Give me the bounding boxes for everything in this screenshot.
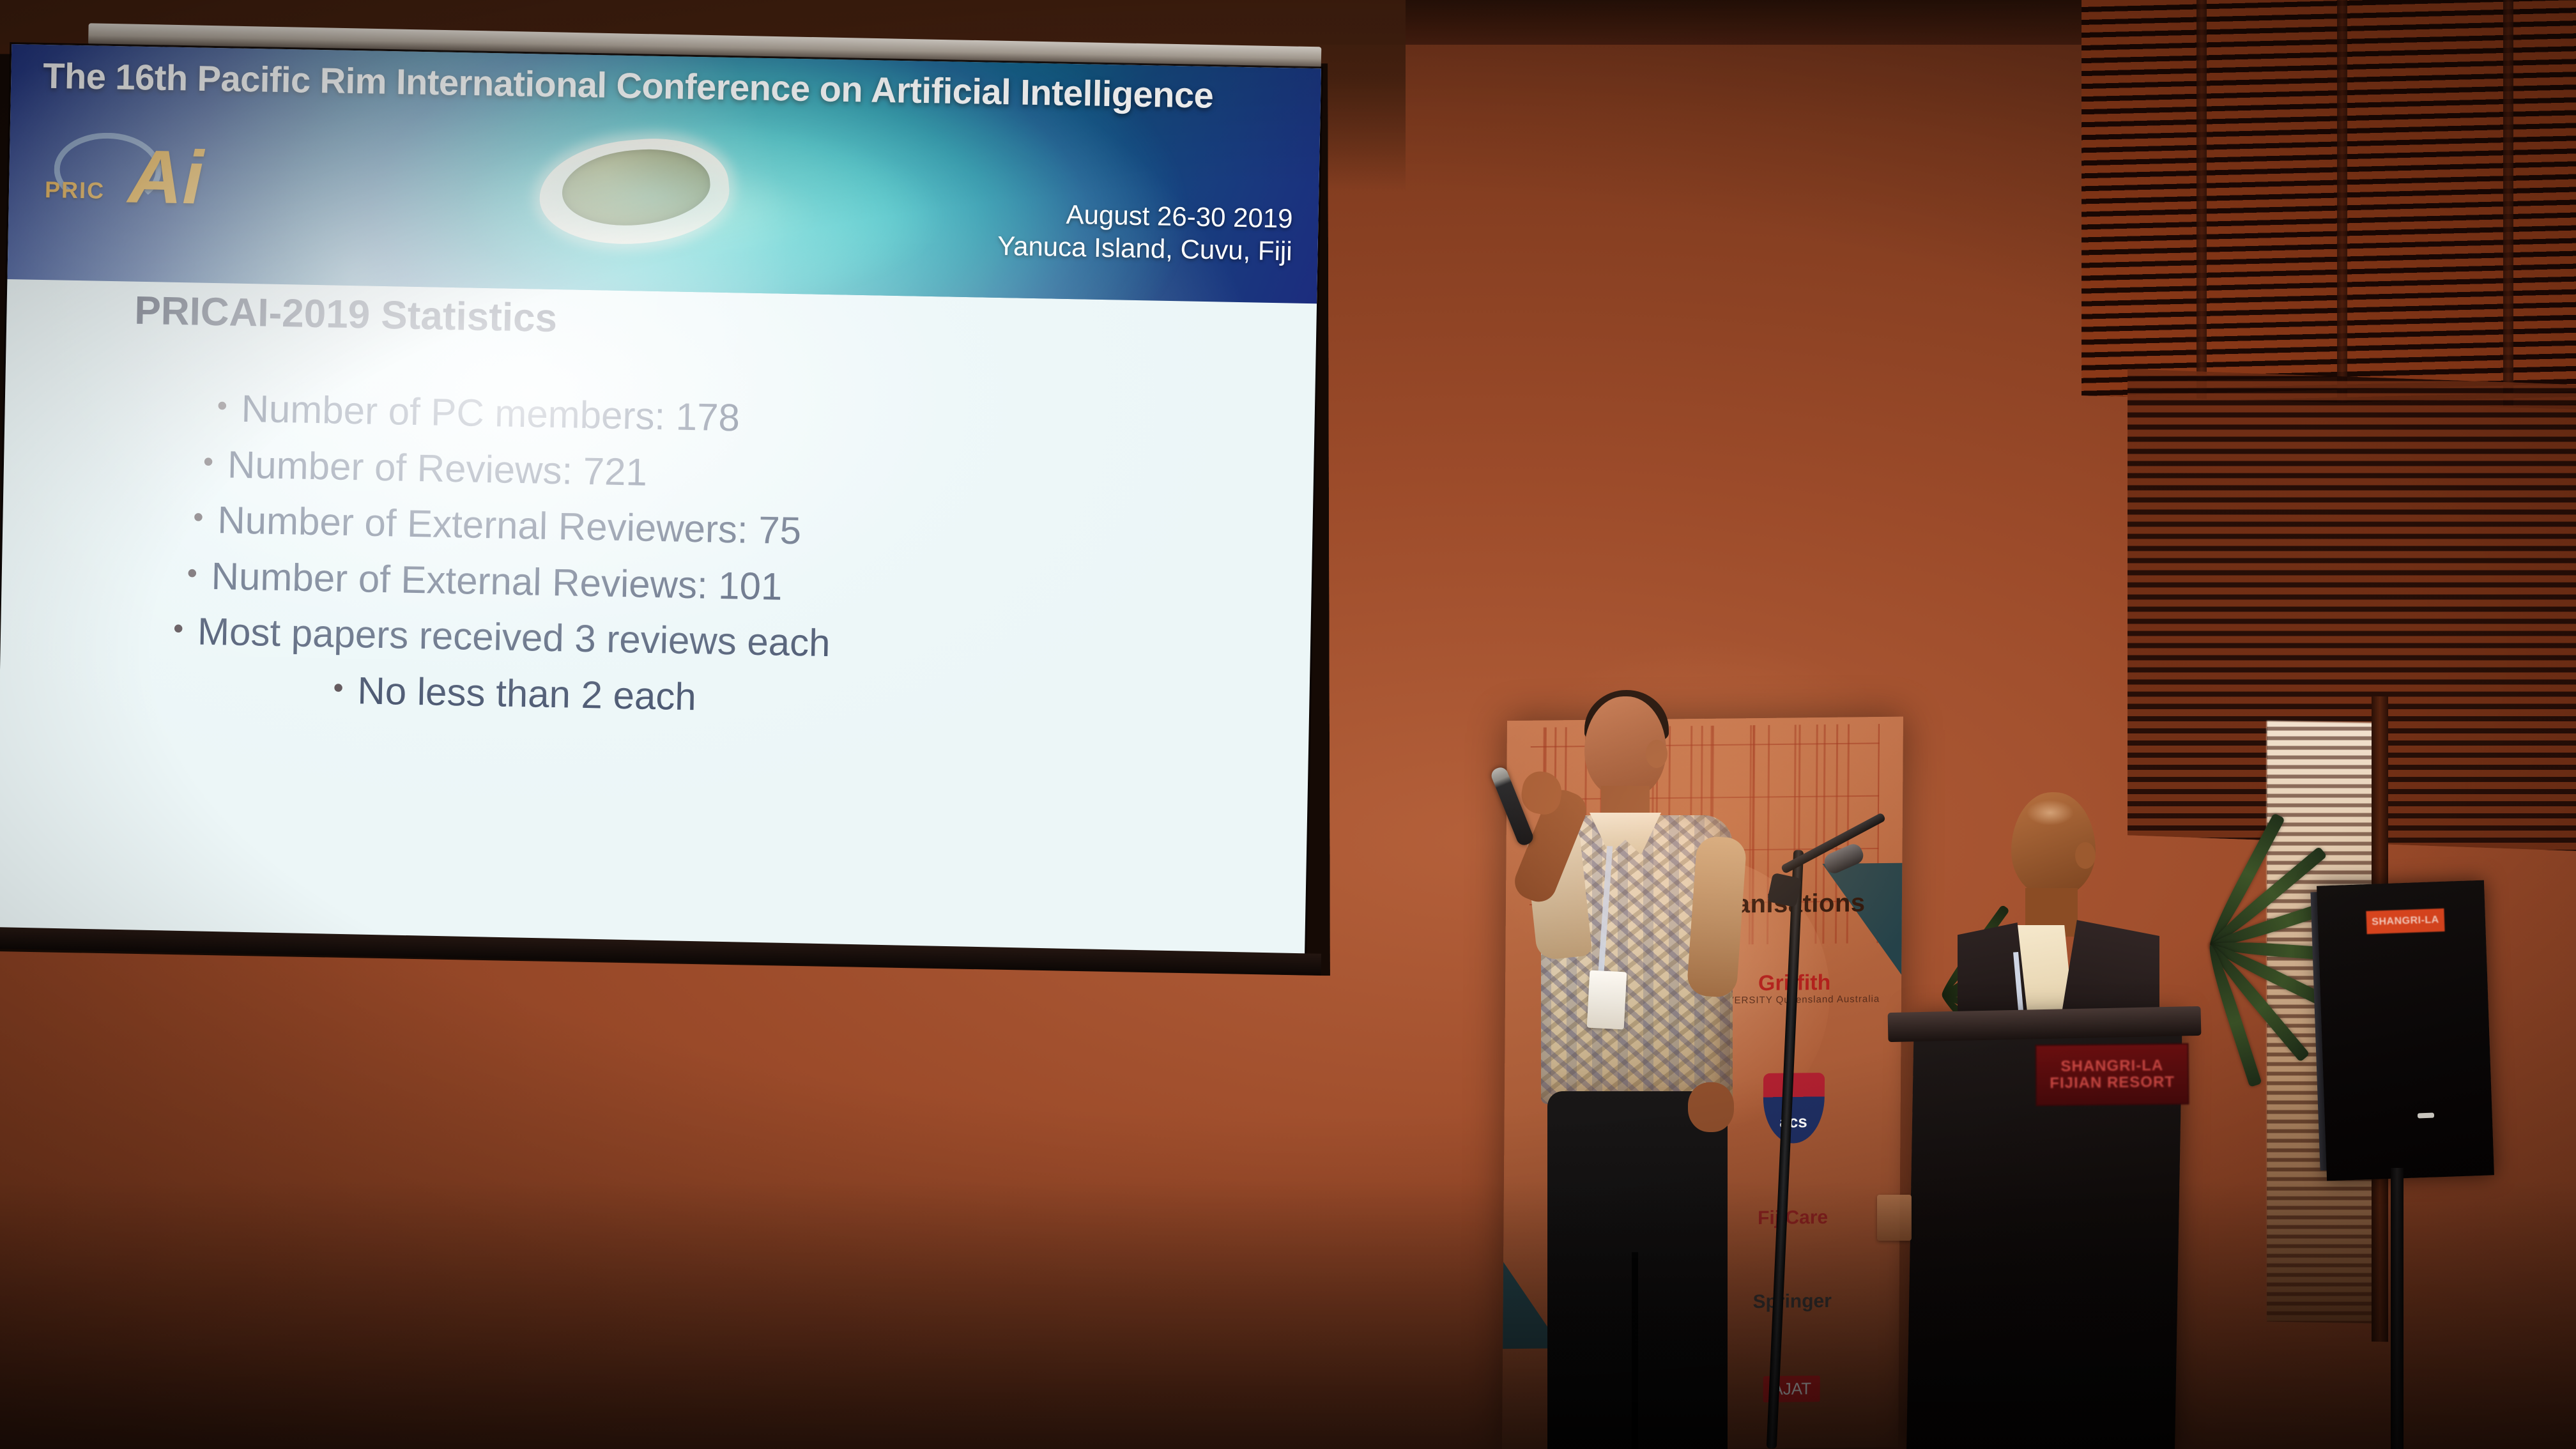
bullet-text: Number of PC members: 178	[241, 381, 740, 446]
bullet-icon: •	[319, 662, 358, 712]
presenter2-head-highlight	[2027, 800, 2074, 825]
bullet-icon: •	[203, 380, 241, 431]
floor-shadow	[0, 1181, 2576, 1449]
palm-frond	[2205, 942, 2310, 1062]
slide-title: PRICAI-2019 Statistics	[134, 288, 558, 341]
bullet-text: Number of External Reviewers: 75	[217, 492, 802, 559]
slide-banner: The 16th Pacific Rim International Confe…	[7, 44, 1321, 303]
lectern-sign-line1: SHANGRI-LA	[2060, 1057, 2163, 1075]
bullet-text: Number of External Reviews: 101	[211, 548, 783, 615]
pa-speaker-label: SHANGRI-LA	[2366, 908, 2444, 934]
logo-pric-text: PRIC	[45, 176, 105, 204]
conference-location: Yanuca Island, Cuvu, Fiji	[997, 229, 1292, 268]
projection-screen: The 16th Pacific Rim International Confe…	[0, 0, 1337, 986]
bullet-text: Number of Reviews: 721	[227, 436, 647, 500]
presenter1-name-badge	[1587, 970, 1627, 1030]
photo-scene: The 16th Pacific Rim International Confe…	[0, 0, 2576, 1449]
bullet-icon: •	[159, 603, 198, 654]
pricai-logo: PRIC Ai	[39, 129, 201, 222]
lectern-sign-line2: FIJIAN RESORT	[2050, 1074, 2175, 1092]
bullet-icon: •	[188, 436, 227, 486]
lectern-resort-sign: SHANGRI-LA FIJIAN RESORT	[2035, 1043, 2189, 1107]
slide-bullet-list: • Number of PC members: 178 • Number of …	[114, 378, 1271, 735]
conference-date-location: August 26-30 2019 Yanuca Island, Cuvu, F…	[997, 197, 1293, 268]
presenter2-ear	[2075, 842, 2096, 869]
presenter1-ear	[1646, 740, 1667, 768]
conference-date: August 26-30 2019	[998, 197, 1293, 235]
microphone-stand-clamp	[1767, 873, 1802, 908]
bullet-icon: •	[179, 491, 218, 542]
bullet-text: No less than 2 each	[357, 663, 697, 724]
blind-post	[2337, 0, 2347, 403]
blind-post	[2503, 0, 2513, 408]
palm-frond	[2207, 846, 2327, 950]
blind-slats	[2081, 0, 2576, 410]
presenter1-right-hand	[1688, 1082, 1734, 1132]
blind-post	[2196, 0, 2207, 399]
logo-ai-text: Ai	[128, 144, 204, 210]
bullet-text: Most papers received 3 reviews each	[197, 604, 831, 671]
window-blinds-upper	[2081, 0, 2576, 410]
pa-speaker-led-icon	[2418, 1113, 2434, 1119]
bullet-icon: •	[172, 548, 211, 598]
presenter1-right-arm	[1686, 836, 1747, 999]
projected-slide: The 16th Pacific Rim International Confe…	[0, 44, 1321, 963]
